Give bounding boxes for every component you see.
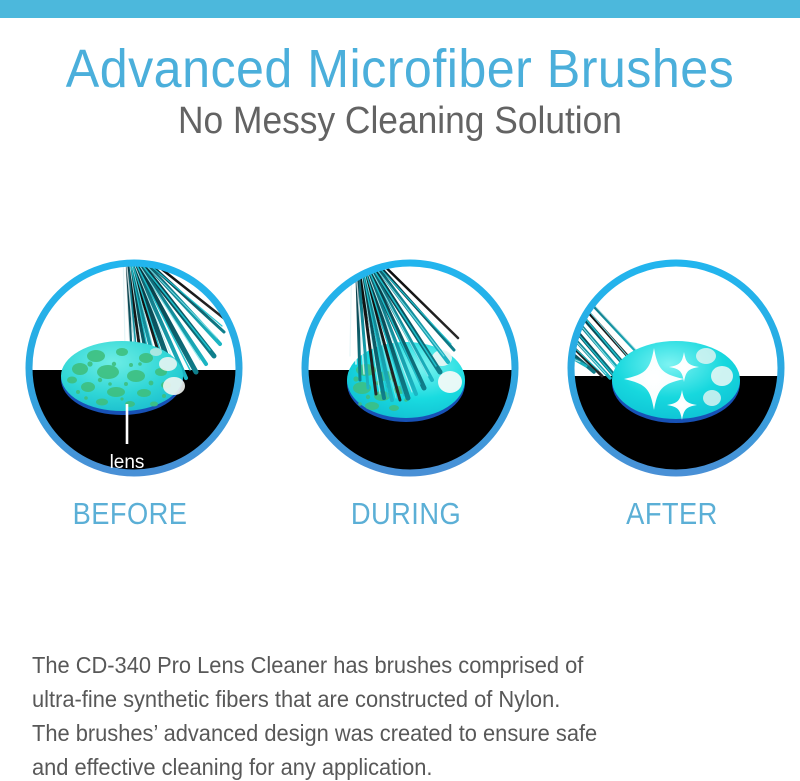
before-diagram: lens [18, 252, 250, 484]
infographic-page: Advanced Microfiber Brushes No Messy Cle… [0, 0, 800, 781]
description-line-2: ultra-fine synthetic fibers that are con… [32, 682, 726, 716]
panel-label-after: AFTER [563, 496, 781, 532]
panel-before: lens BEFORE [6, 252, 254, 542]
during-diagram [294, 252, 526, 484]
panels-row: lens BEFORE [0, 252, 800, 542]
panel-during: DURING [282, 252, 530, 542]
panel-label-before: BEFORE [21, 496, 239, 532]
panel-before-illustration: lens [18, 252, 250, 484]
panel-label-during: DURING [297, 496, 515, 532]
lens-callout-label: lens [110, 452, 145, 473]
description-line-1: The CD-340 Pro Lens Cleaner has brushes … [32, 648, 726, 682]
page-title: Advanced Microfiber Brushes [28, 38, 772, 100]
lens-clean [612, 341, 740, 423]
description-text: The CD-340 Pro Lens Cleaner has brushes … [32, 648, 726, 781]
top-accent-bar [0, 0, 800, 18]
description-line-4: and effective cleaning for any applicati… [32, 750, 726, 781]
panel-after-illustration [560, 252, 792, 484]
page-subtitle: No Messy Cleaning Solution [28, 100, 772, 143]
description-line-3: The brushes’ advanced design was created… [32, 716, 726, 750]
panel-after: AFTER [548, 252, 796, 542]
after-diagram [560, 252, 792, 484]
panel-during-illustration [294, 252, 526, 484]
